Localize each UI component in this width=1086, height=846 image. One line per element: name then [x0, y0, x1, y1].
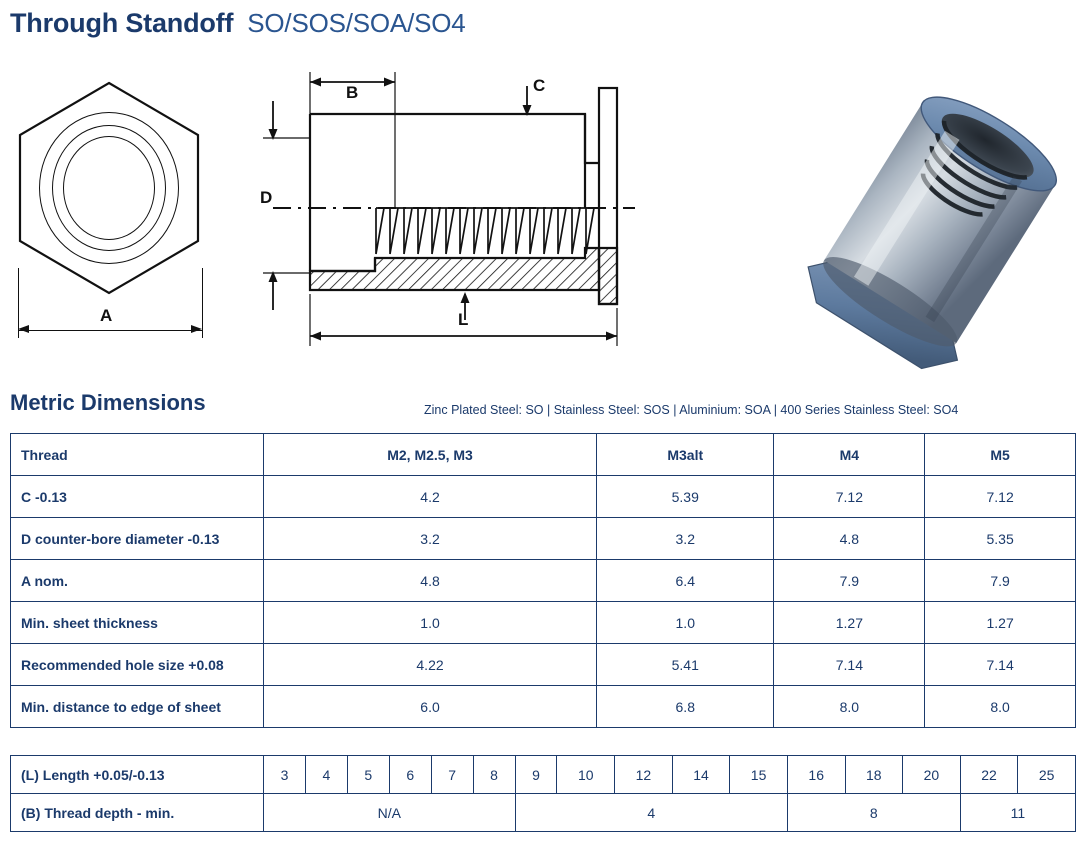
hexagon-end-view-drawing: A: [8, 68, 223, 358]
cell-c-m3alt: 5.39: [597, 476, 774, 518]
length-cell-8: 12: [615, 756, 673, 794]
cell-sheet-m4: 1.27: [774, 602, 925, 644]
thread-depth-cell-0: N/A: [264, 794, 516, 832]
row-label-thread-depth: (B) Thread depth - min.: [11, 794, 264, 832]
thread-bore-circle-inner: [63, 136, 155, 240]
cross-section-drawing: B C D L: [255, 58, 675, 378]
materials-legend: Zinc Plated Steel: SO | Stainless Steel:…: [424, 403, 958, 417]
cell-a-m3alt: 6.4: [597, 560, 774, 602]
row-label-a-nom: A nom.: [11, 560, 264, 602]
cell-c-m5: 7.12: [925, 476, 1076, 518]
table-row: Recommended hole size +0.08 4.22 5.41 7.…: [11, 644, 1076, 686]
length-cell-3: 6: [389, 756, 431, 794]
thread-depth-row: (B) Thread depth - min. N/A 4 8 11: [11, 794, 1076, 832]
table-header-row: Thread M2, M2.5, M3 M3alt M4 M5: [11, 434, 1076, 476]
thread-depth-cell-3: 11: [960, 794, 1075, 832]
length-cell-11: 16: [787, 756, 845, 794]
row-label-d-counterbore: D counter-bore diameter -0.13: [11, 518, 264, 560]
column-header-m5: M5: [925, 434, 1076, 476]
cell-hole-m4: 7.14: [774, 644, 925, 686]
product-codes: SO/SOS/SOA/SO4: [247, 8, 465, 39]
length-thread-depth-table: (L) Length +0.05/-0.13 3 4 5 6 7 8 9 10 …: [10, 755, 1076, 832]
row-label-min-sheet-thickness: Min. sheet thickness: [11, 602, 264, 644]
arrow-right-a: [191, 325, 202, 333]
length-cell-7: 10: [557, 756, 615, 794]
dimension-label-a: A: [100, 306, 112, 326]
length-row: (L) Length +0.05/-0.13 3 4 5 6 7 8 9 10 …: [11, 756, 1076, 794]
cell-sheet-m5: 1.27: [925, 602, 1076, 644]
row-label-min-distance-to-edge: Min. distance to edge of sheet: [11, 686, 264, 728]
cell-a-m3: 4.8: [264, 560, 597, 602]
cell-sheet-m3: 1.0: [264, 602, 597, 644]
cell-a-m5: 7.9: [925, 560, 1076, 602]
cell-edge-m4: 8.0: [774, 686, 925, 728]
row-label-length: (L) Length +0.05/-0.13: [11, 756, 264, 794]
cell-c-m4: 7.12: [774, 476, 925, 518]
length-cell-0: 3: [264, 756, 306, 794]
column-header-m4: M4: [774, 434, 925, 476]
length-cell-12: 18: [845, 756, 903, 794]
page-title: Through Standoff: [10, 8, 233, 39]
length-cell-15: 25: [1018, 756, 1076, 794]
column-header-m2-m25-m3: M2, M2.5, M3: [264, 434, 597, 476]
cell-a-m4: 7.9: [774, 560, 925, 602]
cell-hole-m3: 4.22: [264, 644, 597, 686]
cell-edge-m3alt: 6.8: [597, 686, 774, 728]
cell-edge-m3: 6.0: [264, 686, 597, 728]
thread-depth-cell-2: 8: [787, 794, 960, 832]
drawings-area: A: [0, 58, 1086, 378]
section-heading-metric-dimensions: Metric Dimensions: [10, 390, 206, 416]
table-row: Min. distance to edge of sheet 6.0 6.8 8…: [11, 686, 1076, 728]
standoff-3d-illustration: [800, 72, 1080, 372]
table-row: Min. sheet thickness 1.0 1.0 1.27 1.27: [11, 602, 1076, 644]
column-header-thread: Thread: [11, 434, 264, 476]
length-cell-13: 20: [903, 756, 961, 794]
thread-depth-cell-1: 4: [515, 794, 787, 832]
arrow-left-a: [18, 325, 29, 333]
cell-d-m4: 4.8: [774, 518, 925, 560]
dimension-line-a: [18, 330, 202, 331]
length-cell-6: 9: [515, 756, 557, 794]
datasheet-page: Through Standoff SO/SOS/SOA/SO4 A: [0, 0, 1086, 846]
dimensions-table: Thread M2, M2.5, M3 M3alt M4 M5 C -0.13 …: [10, 433, 1076, 728]
cross-section-svg: [255, 58, 675, 378]
dimension-label-d: D: [260, 188, 272, 208]
length-cell-9: 14: [672, 756, 730, 794]
table-row: A nom. 4.8 6.4 7.9 7.9: [11, 560, 1076, 602]
cell-c-m3: 4.2: [264, 476, 597, 518]
dimension-label-l: L: [458, 310, 468, 330]
cell-edge-m5: 8.0: [925, 686, 1076, 728]
cell-d-m5: 5.35: [925, 518, 1076, 560]
extension-line-right: [202, 268, 203, 338]
product-photo: [800, 72, 1080, 372]
table-row: C -0.13 4.2 5.39 7.12 7.12: [11, 476, 1076, 518]
length-cell-1: 4: [305, 756, 347, 794]
cell-sheet-m3alt: 1.0: [597, 602, 774, 644]
length-cell-14: 22: [960, 756, 1018, 794]
cell-hole-m3alt: 5.41: [597, 644, 774, 686]
cell-d-m3: 3.2: [264, 518, 597, 560]
page-header: Through Standoff SO/SOS/SOA/SO4: [10, 8, 466, 39]
row-label-c: C -0.13: [11, 476, 264, 518]
table-row: D counter-bore diameter -0.13 3.2 3.2 4.…: [11, 518, 1076, 560]
length-cell-4: 7: [431, 756, 473, 794]
column-header-m3alt: M3alt: [597, 434, 774, 476]
cell-d-m3alt: 3.2: [597, 518, 774, 560]
length-cell-2: 5: [347, 756, 389, 794]
row-label-recommended-hole-size: Recommended hole size +0.08: [11, 644, 264, 686]
dimension-label-c: C: [533, 76, 545, 96]
length-cell-10: 15: [730, 756, 788, 794]
cell-hole-m5: 7.14: [925, 644, 1076, 686]
length-cell-5: 8: [473, 756, 515, 794]
dimension-label-b: B: [346, 83, 358, 103]
